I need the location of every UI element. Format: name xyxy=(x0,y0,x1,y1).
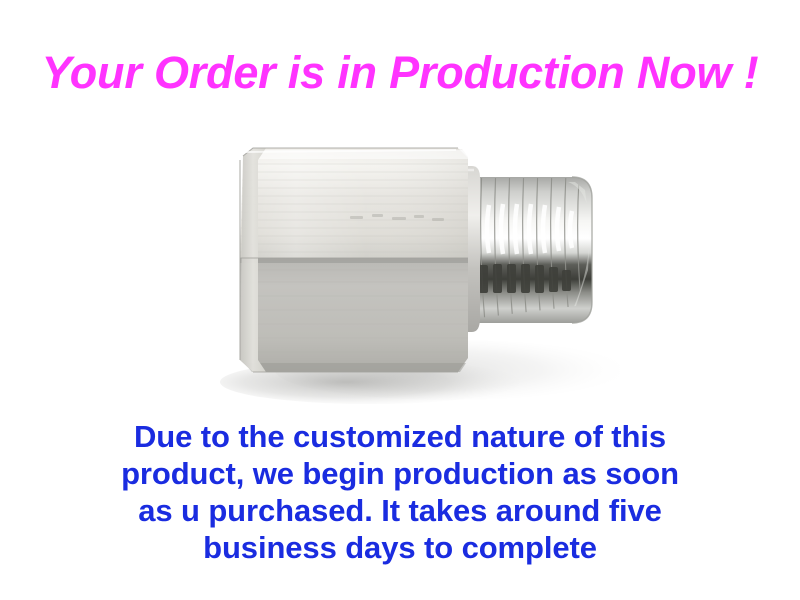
notice-line: business days to complete xyxy=(0,529,800,566)
hex-body xyxy=(238,148,470,374)
notice-line: Due to the customized nature of this xyxy=(0,418,800,455)
hex-upper-brushing xyxy=(238,148,470,260)
product-photo xyxy=(200,120,620,410)
notice-line: product, we begin production as soon xyxy=(0,455,800,492)
production-notice-text: Due to the customized nature of this pro… xyxy=(0,418,800,566)
headline-title: Your Order is in Production Now ! xyxy=(0,48,800,98)
notice-banner: Your Order is in Production Now ! xyxy=(0,0,800,600)
hex-face-lower xyxy=(240,258,468,372)
notice-line: as u purchased. It takes around five xyxy=(0,492,800,529)
